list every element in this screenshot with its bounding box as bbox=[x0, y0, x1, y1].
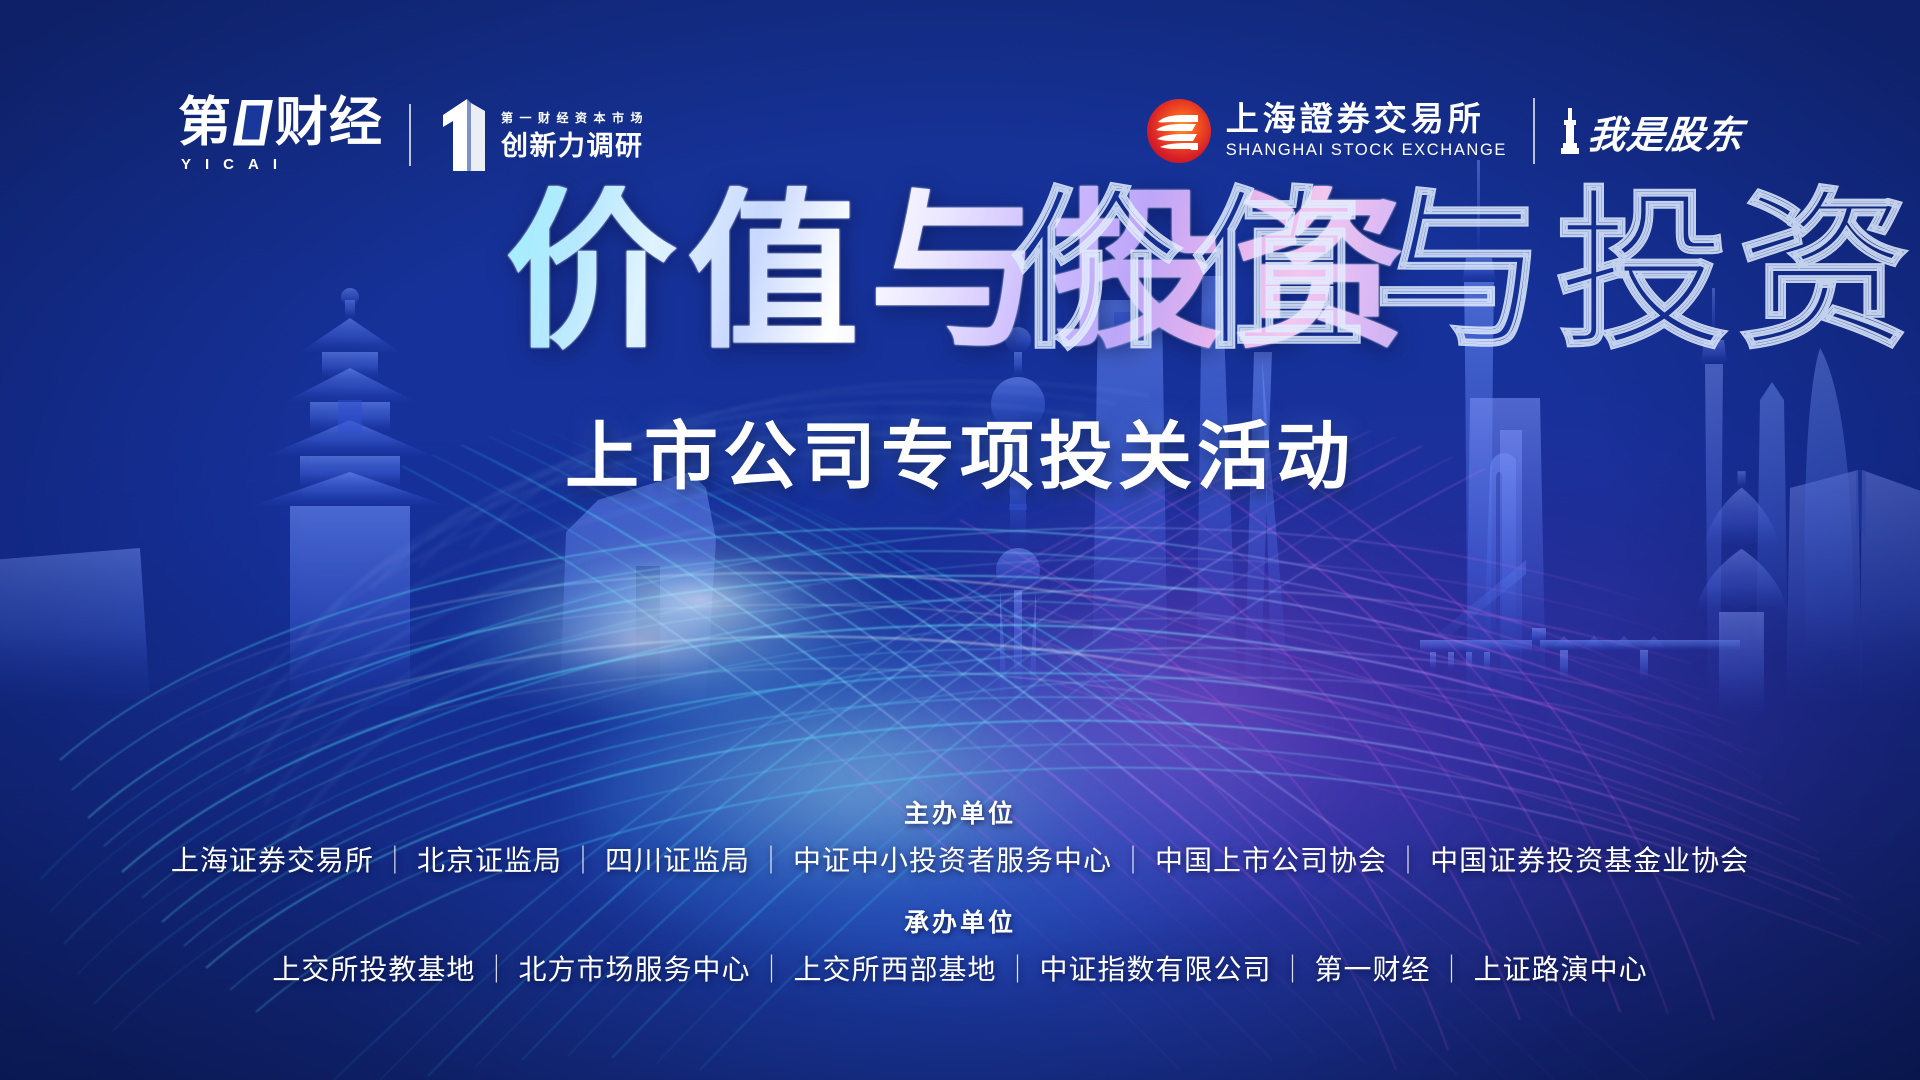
yicai-en-label: YICAI bbox=[181, 156, 291, 173]
i-am-shareholder-logo: 我是股东 bbox=[1561, 104, 1744, 159]
logo-divider bbox=[409, 104, 411, 166]
organizer-item: 上海证券交易所 bbox=[171, 844, 374, 877]
co-organizer-separator: ｜ bbox=[996, 953, 1039, 986]
seal-pillar-icon bbox=[1561, 106, 1579, 156]
organizer-item: 北京证监局 bbox=[417, 844, 562, 877]
hero-title-wrap: 价值与投资 价值与投资 bbox=[0, 186, 1920, 358]
credits-section: 主办单位 上海证券交易所｜北京证监局｜四川证监局｜中证中小投资者服务中心｜中国上… bbox=[0, 794, 1920, 988]
co-organizer-item: 第一财经 bbox=[1315, 953, 1431, 986]
organizer-item: 四川证监局 bbox=[605, 844, 750, 877]
co-organizer-item: 上交所西部基地 bbox=[793, 953, 996, 986]
organizer-separator: ｜ bbox=[562, 844, 605, 877]
yicai-cn-part1: 第 bbox=[178, 96, 232, 149]
sse-en-name: SHANGHAI STOCK EXCHANGE bbox=[1226, 141, 1507, 160]
yicai-logo: 第 财经 YICAI bbox=[178, 96, 383, 173]
partner-logo-group: 上海證券交易所 SHANGHAI STOCK EXCHANGE 我是股东 bbox=[1146, 98, 1744, 164]
organizers-list: 上海证券交易所｜北京证监局｜四川证监局｜中证中小投资者服务中心｜中国上市公司协会… bbox=[0, 839, 1920, 879]
organizer-item: 中证中小投资者服务中心 bbox=[793, 844, 1112, 877]
co-organizer-separator: ｜ bbox=[1431, 953, 1474, 986]
organizer-separator: ｜ bbox=[1387, 844, 1430, 877]
page-subtitle: 上市公司专项投关活动 bbox=[565, 420, 1355, 494]
logo-divider-2 bbox=[1533, 98, 1535, 164]
organizer-separator: ｜ bbox=[374, 844, 417, 877]
innovation-survey-logo: 第一财经资本市场 创新力调研 bbox=[437, 97, 649, 173]
co-organizer-separator: ｜ bbox=[1272, 953, 1315, 986]
event-banner: 第 财经 YICAI 第一财经资本市场 创新力调研 bbox=[0, 0, 1920, 1080]
co-organizer-item: 北方市场服务中心 bbox=[518, 953, 750, 986]
co-organizer-item: 上证路演中心 bbox=[1474, 953, 1648, 986]
building-one-icon bbox=[437, 97, 489, 173]
sse-circle-icon bbox=[1146, 98, 1212, 164]
co-organizer-separator: ｜ bbox=[475, 953, 518, 986]
co-organizers-list: 上交所投教基地｜北方市场服务中心｜上交所西部基地｜中证指数有限公司｜第一财经｜上… bbox=[0, 948, 1920, 988]
i-am-shareholder-text: 我是股东 bbox=[1586, 104, 1747, 159]
sse-cn-name: 上海證券交易所 bbox=[1226, 102, 1507, 137]
page-title: 价值与投资 bbox=[505, 186, 1415, 358]
co-organizer-item: 中证指数有限公司 bbox=[1040, 953, 1272, 986]
organizer-item: 中国上市公司协会 bbox=[1155, 844, 1387, 877]
organizer-separator: ｜ bbox=[750, 844, 793, 877]
hero-subtitle-wrap: 上市公司专项投关活动 bbox=[0, 420, 1920, 494]
yicai-logo-group: 第 财经 YICAI 第一财经资本市场 创新力调研 bbox=[178, 96, 649, 173]
organizer-separator: ｜ bbox=[1112, 844, 1155, 877]
organizer-item: 中国证券投资基金业协会 bbox=[1430, 844, 1749, 877]
shanghai-stock-exchange-logo: 上海證券交易所 SHANGHAI STOCK EXCHANGE bbox=[1146, 98, 1507, 164]
innovation-tagline: 第一财经资本市场 bbox=[501, 109, 649, 126]
yicai-cn-part2: 财经 bbox=[275, 96, 383, 149]
organizers-heading: 主办单位 bbox=[0, 794, 1920, 830]
co-organizers-heading: 承办单位 bbox=[0, 903, 1920, 939]
parallelogram-icon bbox=[233, 100, 273, 146]
innovation-name: 创新力调研 bbox=[501, 133, 649, 160]
co-organizer-separator: ｜ bbox=[750, 953, 793, 986]
co-organizer-item: 上交所投教基地 bbox=[272, 953, 475, 986]
